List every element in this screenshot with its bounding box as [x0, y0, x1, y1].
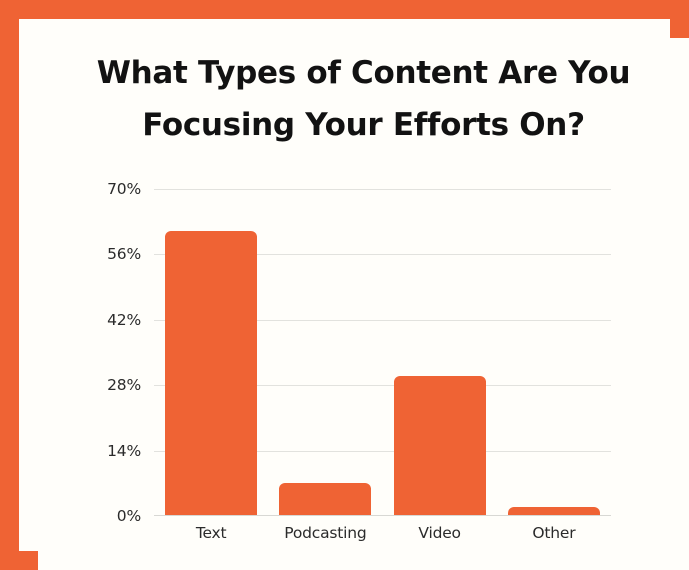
axis-baseline [154, 515, 611, 516]
y-axis-tick-label: 14% [107, 442, 141, 460]
bar-text[interactable] [165, 231, 257, 516]
chart-canvas: What Types of Content Are You Focusing Y… [38, 38, 689, 570]
y-axis-tick-label: 0% [117, 507, 141, 525]
bar-podcasting[interactable] [279, 483, 371, 516]
x-axis-tick-label: Podcasting [284, 524, 366, 542]
plot-area: 0%14%28%42%56%70% TextPodcastingVideoOth… [154, 189, 611, 516]
chart-title-line-1: What Types of Content Are You [38, 47, 689, 99]
page-title: What Types of Content Are You Focusing Y… [38, 47, 689, 151]
x-axis-tick-label: Other [532, 524, 575, 542]
y-axis-tick-label: 70% [107, 180, 141, 198]
y-axis-tick-label: 28% [107, 376, 141, 394]
chart-frame: What Types of Content Are You Focusing Y… [0, 0, 689, 570]
x-axis-tick-label: Video [418, 524, 460, 542]
bar-video[interactable] [394, 376, 486, 516]
chart-title-line-2: Focusing Your Efforts On? [38, 99, 689, 151]
y-axis-tick-label: 42% [107, 311, 141, 329]
x-axis-tick-label: Text [196, 524, 227, 542]
y-axis-tick-label: 56% [107, 245, 141, 263]
gridline [154, 189, 611, 190]
